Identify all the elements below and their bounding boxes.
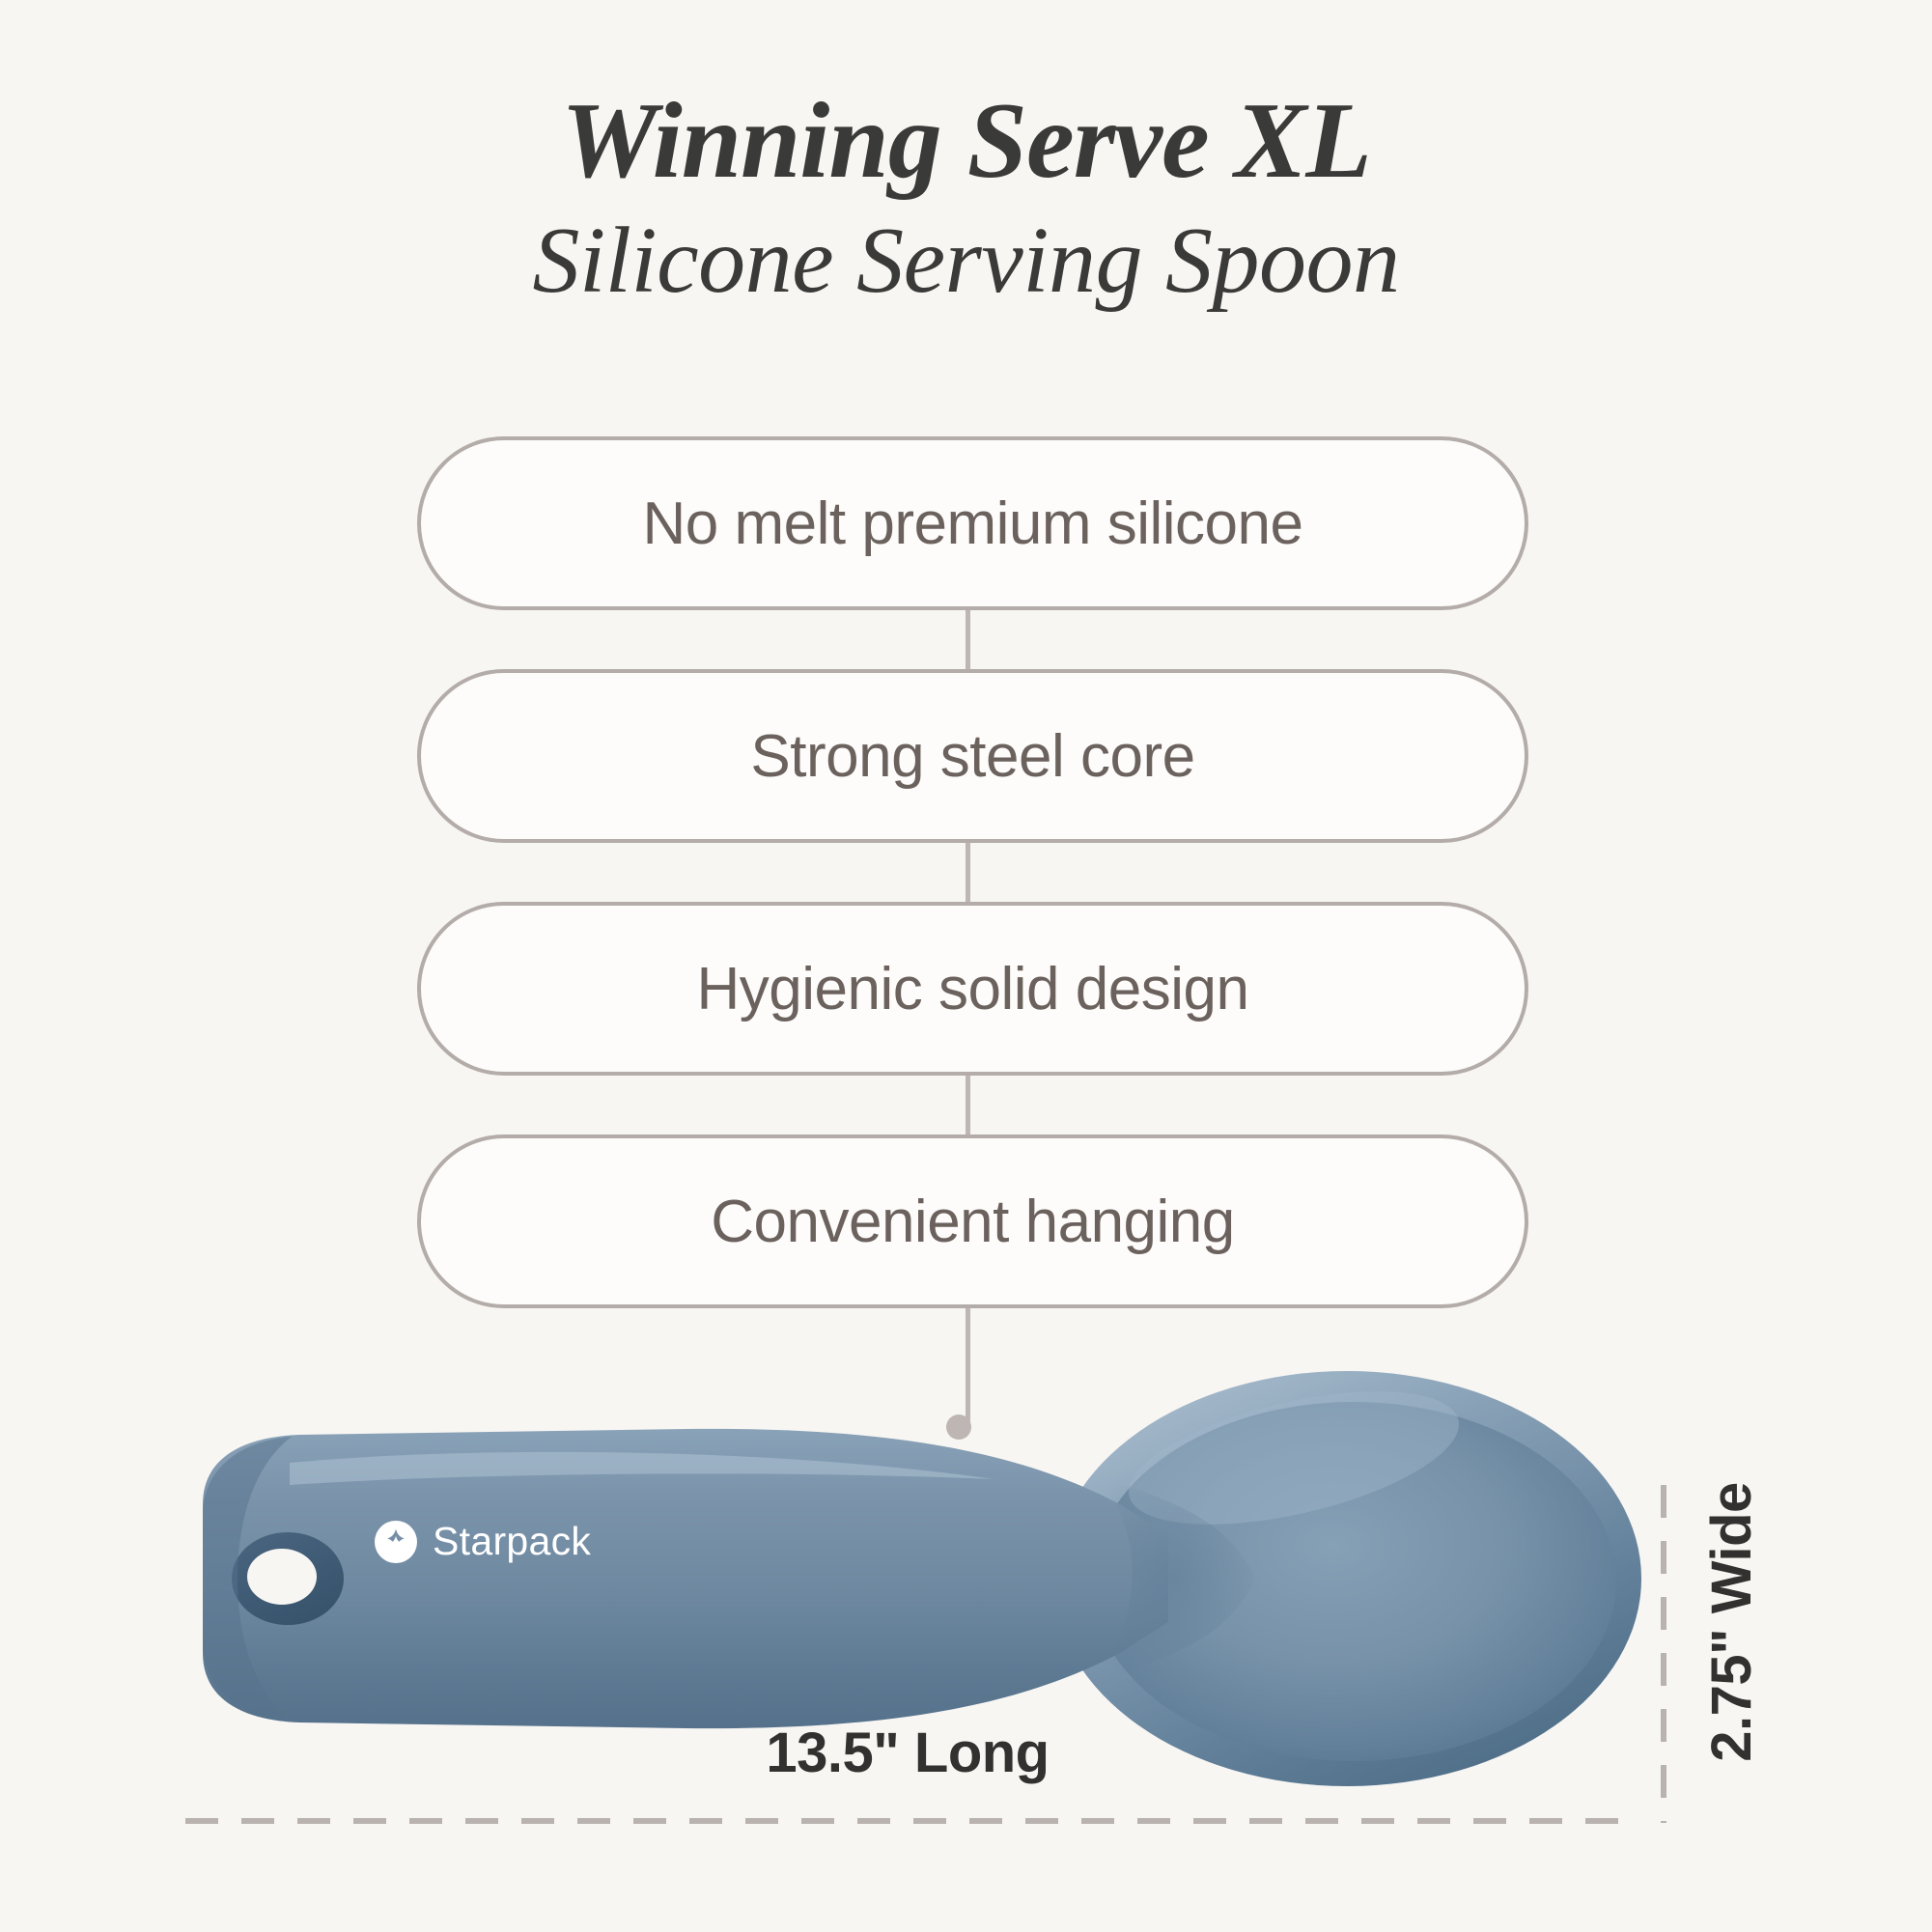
product-subtitle: Silicone Serving Spoon <box>0 195 1932 315</box>
product-title: Winning Serve XL <box>0 87 1932 195</box>
feature-pill-label: Convenient hanging <box>711 1188 1235 1256</box>
product-infographic: Winning Serve XL Silicone Serving Spoon … <box>0 0 1932 1932</box>
feature-list: No melt premium silicone Strong steel co… <box>417 436 1528 1308</box>
feature-pill-hygienic-solid-design[interactable]: Hygienic solid design <box>417 902 1528 1076</box>
dimension-label-width: 2.75" Wide <box>1699 1419 1764 1825</box>
feature-pill-strong-steel-core[interactable]: Strong steel core <box>417 669 1528 843</box>
feature-pill-convenient-hanging[interactable]: Convenient hanging <box>417 1134 1528 1308</box>
feature-pill-no-melt-premium-silicone[interactable]: No melt premium silicone <box>417 436 1528 610</box>
feature-pill-label: No melt premium silicone <box>643 490 1303 558</box>
title-block: Winning Serve XL Silicone Serving Spoon <box>0 87 1932 315</box>
feature-pill-label: Hygienic solid design <box>697 955 1249 1023</box>
hang-hole <box>247 1549 317 1605</box>
dimension-guide-horizontal <box>185 1818 1638 1824</box>
dimension-label-length: 13.5" Long <box>0 1721 1815 1785</box>
feature-pill-label: Strong steel core <box>750 722 1194 791</box>
